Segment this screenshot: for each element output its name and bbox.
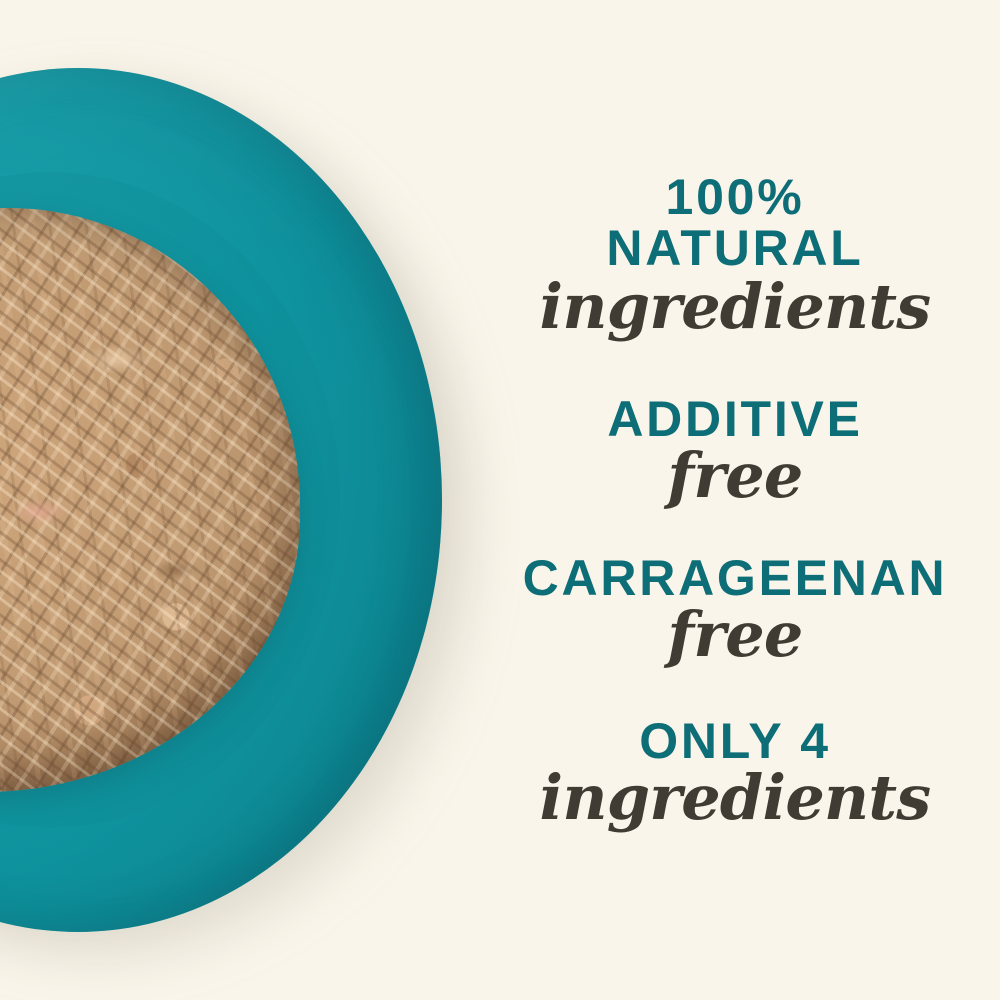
claim-carrageenan-line1: CARRAGEENAN <box>470 553 1000 604</box>
claim-natural-script: ingredients <box>470 276 1000 338</box>
product-photo <box>0 0 520 1000</box>
claims-column: 100% NATURAL ingredients ADDITIVE free C… <box>470 0 1000 1000</box>
claim-additive-line1: ADDITIVE <box>470 394 1000 445</box>
claim-only4: ONLY 4 ingredients <box>470 716 1000 829</box>
claim-only4-script: ingredients <box>470 767 1000 829</box>
claim-carrageenan: CARRAGEENAN free <box>470 553 1000 666</box>
claim-natural-line1: 100% <box>470 172 1000 223</box>
claim-natural-line2: NATURAL <box>470 223 1000 274</box>
product-claims-graphic: 100% NATURAL ingredients ADDITIVE free C… <box>0 0 1000 1000</box>
claim-carrageenan-script: free <box>470 604 1000 666</box>
claim-natural: 100% NATURAL ingredients <box>470 172 1000 338</box>
claim-additive-script: free <box>470 445 1000 507</box>
claim-only4-line1: ONLY 4 <box>470 716 1000 767</box>
claim-additive: ADDITIVE free <box>470 394 1000 507</box>
flaked-tuna-mound <box>0 208 300 792</box>
